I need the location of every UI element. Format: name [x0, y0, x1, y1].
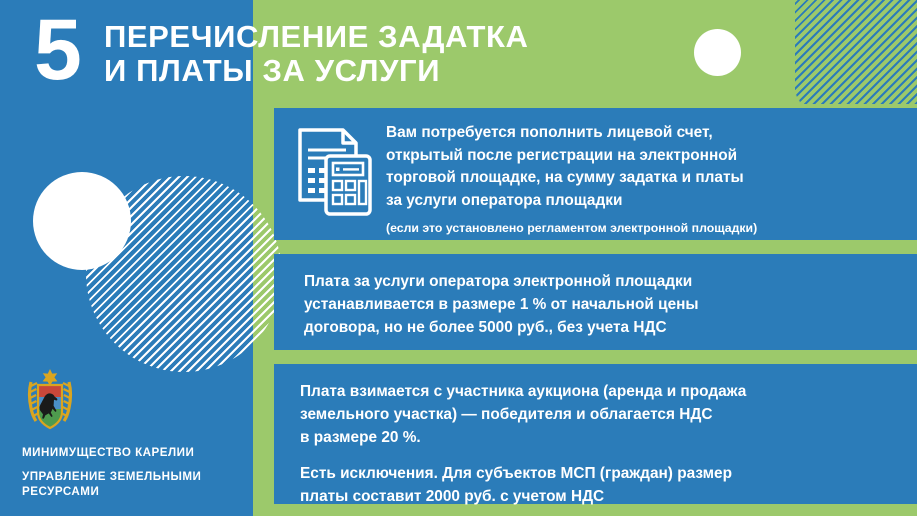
footer-line-2: УПРАВЛЕНИЕ ЗЕМЕЛЬНЫМИ РЕСУРСАМИ: [22, 469, 252, 499]
slide-header: 5 ПЕРЕЧИСЛЕНИЕ ЗАДАТКА И ПЛАТЫ ЗА УСЛУГИ: [0, 0, 917, 102]
page-title: ПЕРЕЧИСЛЕНИЕ ЗАДАТКА И ПЛАТЫ ЗА УСЛУГИ: [104, 20, 529, 88]
card-1-lead-text: Вам потребуется пополнить лицевой счет, …: [386, 122, 899, 212]
card-2-body-text: Плата за услуги оператора электронной пл…: [304, 270, 899, 339]
document-calculator-icon: [296, 122, 382, 223]
card-3-body-text: Плата взимается с участника аукциона (ар…: [300, 380, 746, 449]
karelia-coat-of-arms: [22, 368, 78, 438]
footer-line-1: МИНИМУЩЕСТВО КАРЕЛИИ: [22, 445, 252, 460]
info-card-operator-fee: Плата за услуги оператора электронной пл…: [274, 254, 917, 350]
info-card-deposit-account: Вам потребуется пополнить лицевой счет, …: [274, 108, 917, 240]
card-3-body-text-2: Есть исключения. Для субъектов МСП (граж…: [300, 462, 732, 508]
card-1-note-text: (если это установлено регламентом электр…: [386, 220, 899, 236]
step-number: 5: [34, 7, 80, 93]
infographic-slide: 5 ПЕРЕЧИСЛЕНИЕ ЗАДАТКА И ПЛАТЫ ЗА УСЛУГИ: [0, 0, 917, 516]
footer-organization: МИНИМУЩЕСТВО КАРЕЛИИ УПРАВЛЕНИЕ ЗЕМЕЛЬНЫ…: [22, 445, 252, 499]
info-card-vat-rules: Плата взимается с участника аукциона (ар…: [274, 364, 917, 504]
white-circle-left: [33, 172, 131, 270]
